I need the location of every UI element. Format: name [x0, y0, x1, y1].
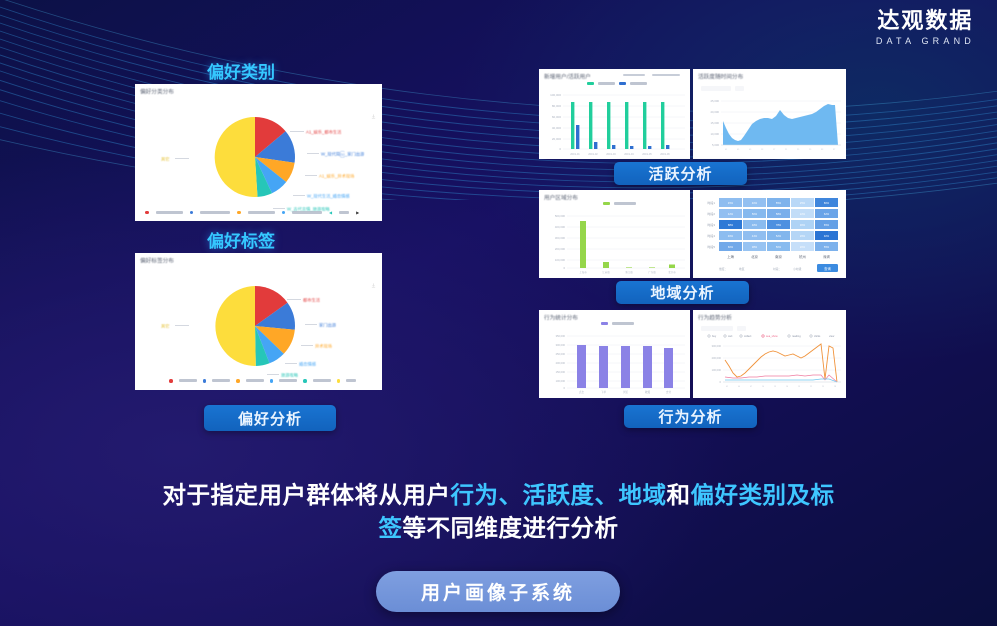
svg-text:时段：: 时段：: [773, 267, 781, 271]
title-preference-tag: 偏好标签: [207, 227, 275, 252]
svg-text:时段3: 时段3: [707, 222, 715, 227]
bar-chart-behavior: 350,000300,000 250,000200,000 150,000100…: [539, 328, 690, 398]
svg-text:15,000: 15,000: [710, 121, 719, 125]
card-region-heatmap[interactable]: 时段1时段2时段3 时段4时段5 45%4: [693, 190, 846, 278]
svg-text:100,000: 100,000: [556, 379, 566, 383]
svg-text:88%: 88%: [728, 223, 734, 227]
svg-text:33: 33: [821, 149, 824, 151]
svg-text:5,000: 5,000: [712, 143, 719, 147]
date-filter-2[interactable]: [652, 74, 680, 76]
svg-text:500,000: 500,000: [555, 214, 566, 218]
pie-label-3: 异术现场: [315, 342, 332, 348]
svg-text:100,000: 100,000: [555, 258, 566, 262]
bar-chart-region: 500,000400,000 300,000200,000 100,0000 上…: [539, 208, 690, 278]
svg-text:65%: 65%: [824, 223, 830, 227]
bar-chart-activity: 100,00080,000 60,00040,000 20,0000 2019-…: [539, 87, 690, 159]
pill-activity-analysis[interactable]: 活跃分析: [614, 162, 747, 185]
svg-text:buy: buy: [712, 334, 717, 338]
svg-text:300,000: 300,000: [712, 344, 722, 348]
svg-text:60,000: 60,000: [552, 115, 562, 119]
svg-text:350,000: 350,000: [556, 334, 566, 338]
pill-preference-analysis[interactable]: 偏好分析: [204, 405, 336, 431]
svg-text:13: 13: [774, 386, 776, 388]
svg-text:view: view: [829, 334, 834, 338]
svg-text:支付: 支付: [666, 390, 672, 394]
svg-text:上海市: 上海市: [579, 270, 587, 274]
svg-text:200,000: 200,000: [712, 356, 722, 360]
svg-text:52%: 52%: [776, 234, 782, 238]
svg-text:浙江省: 浙江省: [625, 270, 633, 274]
svg-text:0: 0: [563, 266, 565, 270]
svg-text:查询: 查询: [824, 266, 831, 271]
svg-text:2019-06: 2019-06: [660, 152, 670, 156]
pie-leader-2: [307, 153, 319, 154]
svg-text:22%: 22%: [800, 212, 806, 216]
svg-text:北京市: 北京市: [668, 270, 676, 274]
svg-text:37: 37: [833, 149, 836, 151]
svg-text:45%: 45%: [728, 201, 734, 205]
pie-leader-3: [301, 345, 313, 346]
svg-text:50%: 50%: [752, 212, 758, 216]
pie-leader-4: [293, 195, 305, 196]
pie-label-1: A1_娱乐_都市生活: [306, 128, 341, 134]
behavior-filter-select[interactable]: [701, 326, 733, 331]
svg-text:55%: 55%: [776, 201, 782, 205]
pie-leader-1: [287, 299, 301, 300]
svg-text:25: 25: [797, 149, 800, 151]
svg-text:40,000: 40,000: [552, 126, 562, 130]
pie-label-6: 其它: [161, 155, 169, 161]
brand-logo: 达观数据 DATA GRAND: [876, 8, 975, 46]
pie-legend-pref-tag[interactable]: [169, 379, 356, 383]
chart-title-behavior-line: 行为趋势分析: [698, 314, 732, 322]
svg-text:400,000: 400,000: [555, 225, 566, 229]
slide-root: 达观数据 DATA GRAND 偏好类别 偏好标签 偏好分类分布 A1_娱乐_都…: [0, 0, 997, 626]
card-activity-area[interactable]: 活跃度随时间分布 25,00020,000 15,00010,000 5,000…: [693, 69, 846, 159]
legend-region-bar[interactable]: [603, 202, 636, 205]
svg-text:300,000: 300,000: [556, 343, 566, 347]
svg-text:10,000: 10,000: [710, 132, 719, 136]
svg-text:20,000: 20,000: [710, 110, 719, 114]
pill-behavior-analysis[interactable]: 行为分析: [624, 405, 757, 428]
activity-filter-btn[interactable]: [735, 86, 744, 91]
pill-subsystem[interactable]: 用户画像子系统: [376, 571, 620, 612]
svg-text:80%: 80%: [824, 201, 830, 205]
pie-chart-pref-category: [195, 110, 315, 205]
date-filter-1[interactable]: [623, 74, 645, 76]
svg-text:杭州: 杭州: [799, 254, 806, 259]
legend-activity-bar[interactable]: [587, 82, 647, 85]
svg-text:01: 01: [725, 149, 728, 151]
svg-text:78%: 78%: [776, 223, 782, 227]
svg-text:cart: cart: [728, 334, 733, 338]
svg-text:收藏: 收藏: [645, 390, 651, 394]
svg-text:0: 0: [559, 147, 561, 151]
chart-title-behavior-bar: 行为统计分布: [544, 314, 578, 322]
chart-title-activity-bar: 新增用户/活跃用户: [544, 73, 591, 81]
svg-text:2019-03: 2019-03: [606, 152, 616, 156]
svg-text:0: 0: [720, 380, 722, 384]
svg-text:55%: 55%: [824, 245, 830, 249]
pie-chart-pref-tag: [195, 279, 315, 374]
svg-text:28: 28: [834, 386, 836, 388]
svg-text:100,000: 100,000: [712, 368, 722, 372]
summary-highlight-1: 行为、活跃度、地域: [451, 482, 667, 508]
svg-text:时段2: 时段2: [707, 211, 715, 216]
svg-text:25,000: 25,000: [710, 99, 719, 103]
svg-text:200,000: 200,000: [556, 361, 566, 365]
svg-text:深圳: 深圳: [823, 254, 830, 259]
svg-text:时段5: 时段5: [707, 244, 715, 249]
svg-text:2019-04: 2019-04: [624, 152, 634, 156]
svg-text:150,000: 150,000: [556, 370, 566, 374]
svg-text:30%: 30%: [800, 223, 806, 227]
card-preference-category[interactable]: 偏好分类分布 A1_娱乐_都市生活 W_现代简ဩ_家门出游 A1_娱乐_异术现场…: [135, 84, 382, 221]
svg-text:80,000: 80,000: [552, 104, 562, 108]
svg-text:江苏省: 江苏省: [602, 270, 610, 274]
svg-text:collect: collect: [744, 334, 752, 338]
svg-text:19: 19: [798, 386, 800, 388]
svg-text:01: 01: [726, 386, 728, 388]
svg-text:13: 13: [761, 149, 764, 151]
download-icon[interactable]: [371, 106, 376, 111]
svg-text:04: 04: [738, 386, 740, 388]
chart-title-activity-area: 活跃度随时间分布: [698, 73, 743, 81]
brand-name-cn: 达观数据: [876, 8, 975, 33]
chart-title-pref-category: 偏好分类分布: [140, 88, 174, 96]
legend-behavior-bar[interactable]: [601, 322, 634, 325]
svg-text:25: 25: [822, 386, 824, 388]
card-behavior-line[interactable]: 行为趋势分析 buy cart collect sea_show reading…: [693, 310, 846, 398]
svg-text:46%: 46%: [728, 234, 734, 238]
pie-label-6: 其它: [161, 322, 169, 328]
pie-leader-5: [267, 374, 279, 375]
pie-label-4: 婚恋情感: [299, 360, 316, 366]
svg-text:200,000: 200,000: [555, 247, 566, 251]
svg-text:下单: 下单: [601, 390, 607, 394]
svg-text:维度：: 维度：: [719, 267, 727, 271]
pie-label-2: 家门出游: [319, 321, 336, 327]
svg-text:0: 0: [564, 386, 566, 390]
svg-text:05: 05: [737, 149, 740, 151]
svg-text:92%: 92%: [824, 234, 830, 238]
pie-leader-1: [290, 131, 304, 132]
summary-part-3: 等不同维度进行分析: [403, 515, 619, 541]
download-icon[interactable]: [371, 275, 376, 280]
svg-text:北京: 北京: [751, 254, 758, 259]
summary-highlight-3: 签: [379, 515, 403, 541]
svg-text:38%: 38%: [752, 245, 758, 249]
card-preference-tag[interactable]: 偏好标签分布 都市生活 家门出游 异术现场 婚恋情感 旅游攻略 其它: [135, 253, 382, 390]
svg-text:42%: 42%: [728, 212, 734, 216]
summary-text: 对于指定用户群体将从用户行为、活跃度、地域和偏好类别及标 签等不同维度进行分析: [0, 479, 997, 546]
pie-leader-6: [175, 325, 189, 326]
svg-text:点击: 点击: [579, 390, 585, 394]
activity-filter-select[interactable]: [701, 86, 731, 91]
svg-text:2019-05: 2019-05: [642, 152, 652, 156]
svg-text:sea_show: sea_show: [766, 334, 778, 338]
svg-text:58%: 58%: [776, 212, 782, 216]
svg-text:浏览: 浏览: [623, 390, 629, 394]
pie-label-5: 旅游攻略: [281, 371, 298, 377]
svg-text:16: 16: [786, 386, 788, 388]
svg-text:60%: 60%: [728, 245, 734, 249]
pie-label-1: 都市生活: [303, 296, 320, 302]
pie-leader-2: [305, 324, 317, 325]
svg-text:时段1: 时段1: [707, 200, 715, 205]
svg-text:09: 09: [749, 149, 752, 151]
svg-text:300,000: 300,000: [555, 236, 566, 240]
chart-title-region-bar: 用户区域分布: [544, 194, 578, 202]
svg-text:reading: reading: [792, 334, 801, 338]
svg-text:62%: 62%: [824, 212, 830, 216]
card-behavior-bar[interactable]: 行为统计分布 350,000300,000 250,000200,000 150…: [539, 310, 690, 398]
svg-text:21: 21: [785, 149, 788, 151]
behavior-filter-btn[interactable]: [737, 326, 746, 331]
svg-text:clicks: clicks: [814, 334, 821, 338]
svg-text:南京: 南京: [775, 254, 782, 259]
svg-text:时段4: 时段4: [707, 233, 715, 238]
svg-text:48%: 48%: [752, 223, 758, 227]
chart-title-pref-tag: 偏好标签分布: [140, 257, 174, 265]
svg-text:10: 10: [762, 386, 764, 388]
brand-name-en: DATA GRAND: [876, 36, 975, 46]
pie-label-2: W_现代简ဩ_家门出游: [321, 150, 364, 158]
card-activity-bar[interactable]: 新增用户/活跃用户 100,00080,000 60,00040,000 20,…: [539, 69, 690, 159]
pill-region-analysis[interactable]: 地域分析: [616, 281, 749, 304]
svg-text:29: 29: [809, 149, 812, 151]
svg-text:2019-01: 2019-01: [570, 152, 580, 156]
summary-part-1: 对于指定用户群体将从用户: [163, 482, 451, 508]
pie-leader-5: [273, 208, 285, 209]
svg-text:100,000: 100,000: [550, 93, 561, 97]
pie-label-4: W_现代生活_婚恋情感: [307, 192, 350, 198]
pie-legend-pref-category[interactable]: ◀ ▶: [145, 210, 359, 215]
svg-text:40%: 40%: [752, 201, 758, 205]
svg-text:22: 22: [810, 386, 812, 388]
title-preference-category: 偏好类别: [207, 58, 275, 83]
pie-leader-4: [285, 363, 297, 364]
pie-label-3: A1_娱乐_异术现场: [319, 172, 354, 178]
svg-text:50%: 50%: [776, 245, 782, 249]
area-chart-activity: 25,00020,000 15,00010,000 5,000 01050913…: [693, 93, 846, 159]
svg-text:25%: 25%: [800, 201, 806, 205]
svg-text:07: 07: [750, 386, 752, 388]
svg-text:广东省: 广东省: [648, 270, 656, 274]
pie-leader-6: [175, 158, 189, 159]
svg-text:20,000: 20,000: [552, 137, 562, 141]
svg-text:上海: 上海: [727, 254, 734, 259]
svg-text:地区: 地区: [739, 267, 745, 271]
svg-text:2019-02: 2019-02: [588, 152, 598, 156]
svg-text:26%: 26%: [800, 234, 806, 238]
card-region-bar[interactable]: 用户区域分布 500,000400,000 300,000200,000 100…: [539, 190, 690, 278]
heatmap-region: 时段1时段2时段3 时段4时段5 45%4: [693, 190, 846, 278]
svg-text:17: 17: [773, 149, 776, 151]
svg-text:20%: 20%: [800, 245, 806, 249]
svg-text:44%: 44%: [752, 234, 758, 238]
svg-text:小时级: 小时级: [793, 267, 802, 271]
summary-highlight-2: 偏好类别及标: [691, 482, 835, 508]
svg-text:250,000: 250,000: [556, 352, 566, 356]
pie-leader-3: [305, 175, 317, 176]
summary-part-2: 和: [667, 482, 691, 508]
line-chart-behavior: buy cart collect sea_show reading clicks…: [693, 332, 846, 398]
